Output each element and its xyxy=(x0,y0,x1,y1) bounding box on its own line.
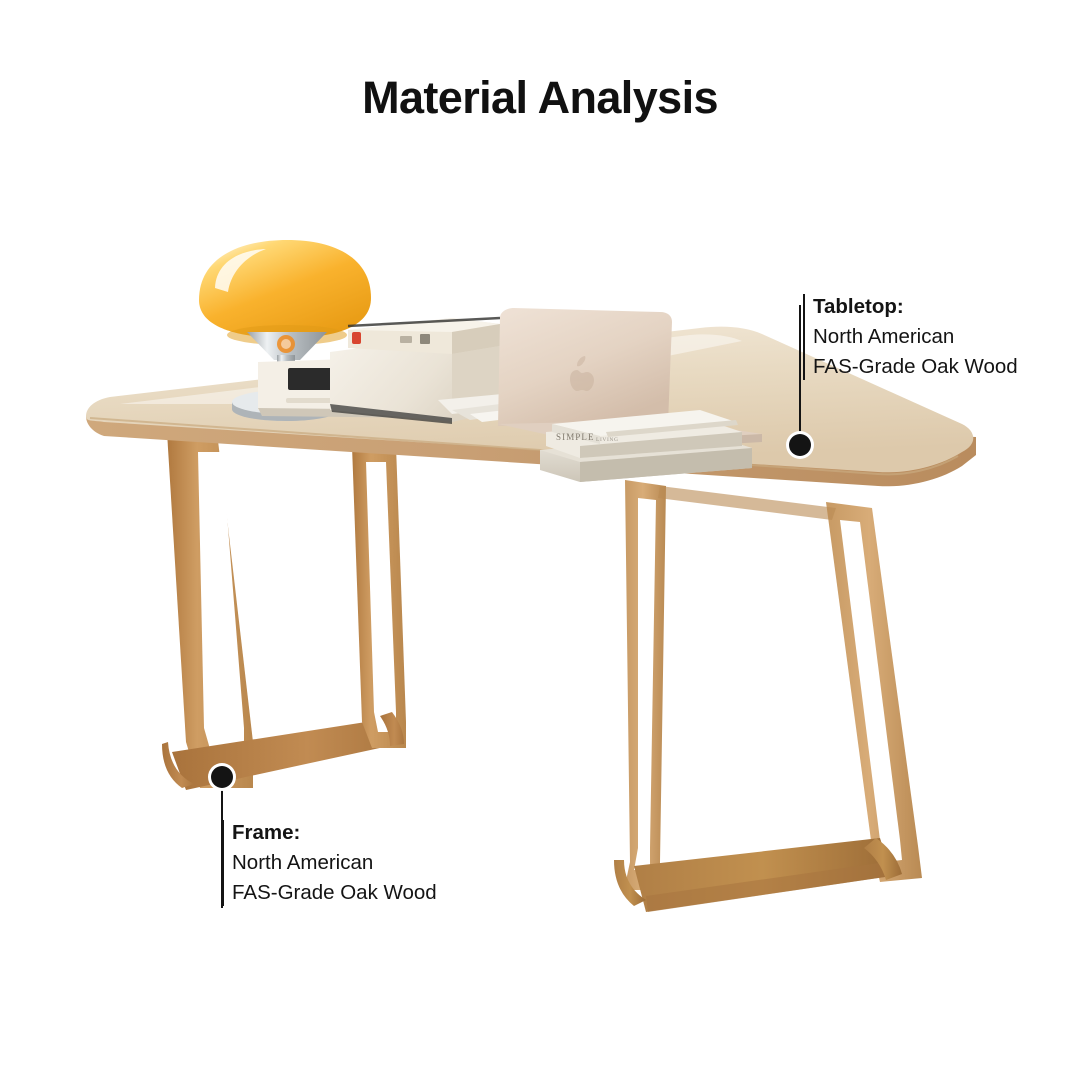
red-button xyxy=(352,332,361,344)
leader-line-tabletop xyxy=(799,305,801,447)
callout-rule-tabletop xyxy=(803,294,805,380)
book-spine-text: SIMPLE xyxy=(556,432,595,442)
callout-title-frame: Frame: xyxy=(232,818,437,848)
callout-dot-tabletop[interactable] xyxy=(789,434,811,456)
screenshot-root: Material Analysis xyxy=(0,0,1080,1080)
callout-title-tabletop: Tabletop: xyxy=(813,292,1018,322)
callout-line-tabletop-2: FAS-Grade Oak Wood xyxy=(813,352,1018,382)
table-leg-left xyxy=(162,432,406,790)
callout-dot-frame[interactable] xyxy=(211,766,233,788)
table-leg-right xyxy=(614,480,922,912)
callout-rule-frame xyxy=(222,820,224,906)
callout-line-tabletop-1: North American xyxy=(813,322,1018,352)
callout-text-frame: Frame: North American FAS-Grade Oak Wood xyxy=(222,818,437,908)
callout-text-tabletop: Tabletop: North American FAS-Grade Oak W… xyxy=(803,292,1018,382)
callout-line-frame-1: North American xyxy=(232,848,437,878)
product-photo: SIMPLE LIVING xyxy=(0,0,1080,1080)
svg-text:LIVING: LIVING xyxy=(596,437,619,443)
callout-line-frame-2: FAS-Grade Oak Wood xyxy=(232,878,437,908)
